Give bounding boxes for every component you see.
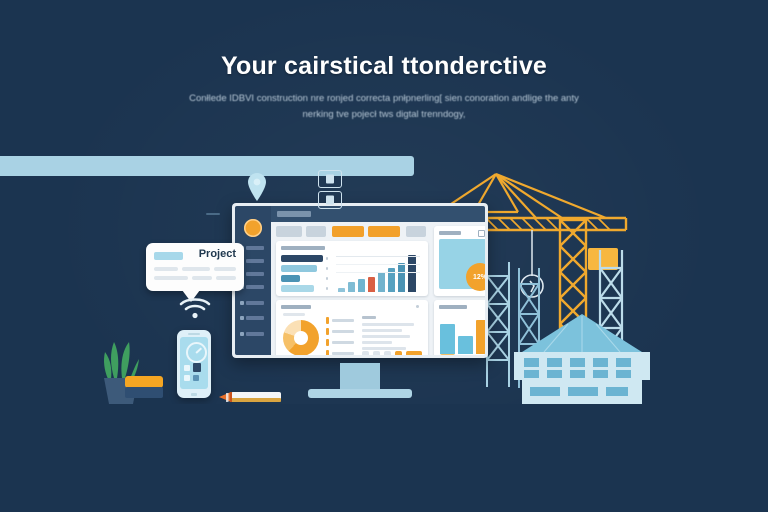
metric-row (281, 265, 317, 272)
metric-row (281, 255, 323, 262)
document-icon (318, 170, 342, 188)
map-preview[interactable]: 12% (439, 239, 485, 289)
tooltip-line (216, 276, 236, 280)
tab-summary[interactable] (332, 226, 364, 237)
dashboard-body: 12% (271, 222, 485, 355)
performance-bar-card[interactable] (276, 241, 428, 296)
calendar-icon[interactable] (184, 365, 190, 371)
phone-screen[interactable] (180, 337, 208, 389)
primary-action[interactable] (395, 351, 402, 355)
tooltip-line (154, 276, 188, 280)
column-chart-card[interactable] (434, 300, 485, 355)
sidebar-item-tasks[interactable] (240, 301, 267, 306)
illustration-canvas: Your cairstical ttonderctive Conłlede ID… (0, 0, 768, 512)
more-icon[interactable] (416, 305, 419, 308)
milestone-columns (440, 314, 485, 354)
sidebar-item-settings[interactable] (240, 332, 267, 337)
metric-row (281, 285, 314, 292)
dashboard-title (277, 211, 311, 217)
monitor-stand-neck (340, 363, 380, 391)
card-title (439, 305, 467, 309)
gauge-icon (186, 342, 207, 363)
card-title (281, 305, 311, 309)
primary-action[interactable] (406, 351, 422, 355)
dashboard-tabs (276, 226, 428, 237)
tab-detail[interactable] (306, 226, 326, 237)
tooltip-line (214, 267, 236, 271)
map-card[interactable]: 12% (434, 226, 485, 296)
sidebar-item-files[interactable] (240, 316, 267, 321)
project-tooltip[interactable]: Project (146, 243, 244, 291)
wifi-icon (178, 297, 212, 319)
phone-home-button[interactable] (191, 393, 197, 396)
map-badge: 12% (466, 263, 485, 291)
tooltip-title: Project (199, 248, 236, 260)
tooltip-chip (154, 252, 183, 260)
resource-cost-donut (283, 320, 319, 355)
mobile-device[interactable] (177, 330, 211, 398)
sidebar-item-team[interactable] (240, 285, 267, 290)
card-title (439, 231, 461, 235)
pencil (217, 391, 283, 404)
tab-export[interactable] (406, 226, 426, 237)
sidebar-item-reports[interactable] (240, 272, 267, 277)
refresh-icon[interactable] (478, 230, 485, 237)
construction-building (508, 312, 656, 408)
loading-dashes-icon (206, 203, 220, 206)
user-icon[interactable] (193, 375, 199, 381)
hero-text-block: Your cairstical ttonderctive Conłlede ID… (0, 52, 768, 122)
dashboard-titlebar (271, 206, 485, 222)
tool-box (124, 375, 164, 399)
building-icon[interactable] (193, 363, 201, 372)
sidebar-item-projects[interactable] (240, 259, 267, 264)
chart-icon[interactable] (184, 375, 190, 381)
desktop-monitor: 12% (232, 203, 488, 399)
monitor-stand-base (308, 389, 412, 398)
desk-surface (0, 156, 414, 176)
page-subtitle: Conłlede IDBVI construction nre ronjed c… (189, 91, 579, 122)
foreground-ground (0, 404, 768, 512)
page-title: Your cairstical ttonderctive (0, 52, 768, 81)
monitor-bezel: 12% (232, 203, 488, 358)
dashboard-screen: 12% (235, 206, 485, 355)
stacked-icon-group (318, 170, 342, 206)
card-title (281, 246, 325, 250)
tab-overview[interactable] (368, 226, 400, 237)
tooltip-line (182, 267, 210, 271)
metric-row (281, 275, 300, 282)
pie-subtitle (283, 313, 305, 316)
app-logo (244, 219, 262, 237)
allocation-pie-card[interactable] (276, 300, 428, 355)
map-pin-icon (246, 172, 268, 202)
gear-icon (318, 191, 342, 209)
phone-speaker (188, 333, 200, 335)
site-productivity-bars (336, 252, 422, 292)
tab-report[interactable] (276, 226, 302, 237)
sidebar-item-overview[interactable] (240, 246, 267, 251)
tooltip-line (154, 267, 178, 271)
tooltip-line (192, 276, 212, 280)
